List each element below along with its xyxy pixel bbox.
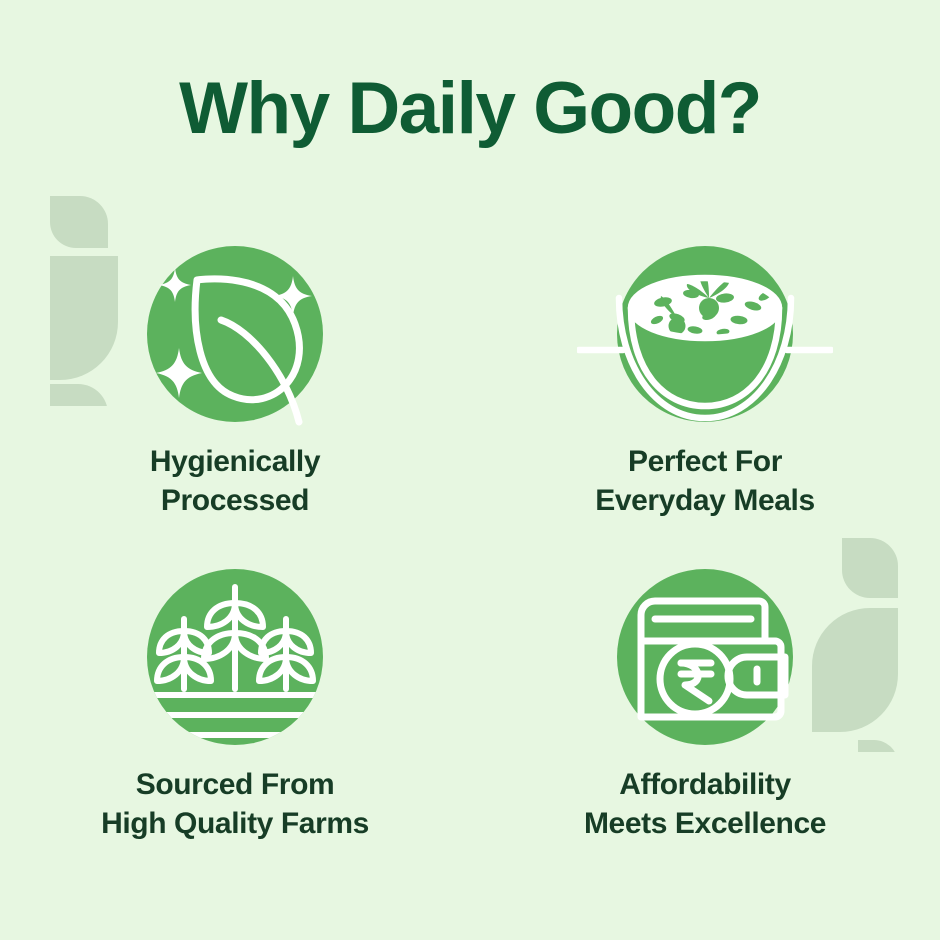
why-daily-good-poster: Why Daily Good? <box>0 0 940 940</box>
feature-card-affordability: Affordability Meets Excellence <box>470 569 940 892</box>
leaf-sparkle-icon <box>107 206 363 462</box>
crop-field-icon <box>107 529 363 785</box>
feature-card-everyday-meals: Perfect For Everyday Meals <box>470 246 940 569</box>
feature-card-hygienically-processed: Hygienically Processed <box>0 246 470 569</box>
soup-bowl-icon <box>577 206 833 462</box>
wallet-rupee-icon <box>577 529 833 785</box>
feature-icon-wrap <box>617 569 793 745</box>
feature-card-quality-farms: Sourced From High Quality Farms <box>0 569 470 892</box>
feature-icon-wrap <box>617 246 793 422</box>
feature-icon-wrap <box>147 569 323 745</box>
feature-icon-wrap <box>147 246 323 422</box>
features-grid: Hygienically Processed <box>0 246 940 892</box>
page-title: Why Daily Good? <box>0 66 940 152</box>
